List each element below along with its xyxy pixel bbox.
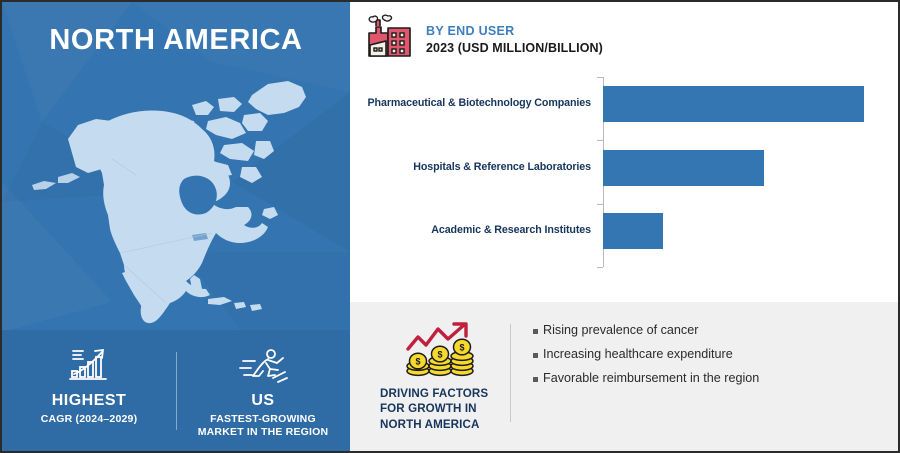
axis-tick	[597, 204, 603, 205]
north-america-map-icon	[16, 57, 338, 327]
bar-track	[598, 84, 898, 124]
bar-chart-growth-icon	[2, 344, 176, 386]
bar-label: Academic & Research Institutes	[350, 224, 598, 237]
bar-row: Hospitals & Reference Laboratories	[350, 148, 898, 188]
axis-tick	[597, 140, 603, 141]
list-item: Rising prevalence of cancer	[533, 324, 898, 338]
stat-fastest-growing-country: US FASTEST-GROWING MARKET IN THE REGION	[176, 344, 350, 439]
svg-text:$: $	[459, 343, 464, 353]
stat-detail-line1: FASTEST-GROWING	[176, 413, 350, 426]
chart-subtitle: 2023 (USD MILLION/BILLION)	[426, 40, 603, 56]
bullet-square-icon	[533, 329, 538, 334]
stat-highest-cagr: HIGHEST CAGR (2024–2029)	[2, 344, 176, 426]
bar-track	[598, 148, 898, 188]
bar-row: Academic & Research Institutes	[350, 211, 898, 251]
stat-detail-line2: MARKET IN THE REGION	[176, 426, 350, 439]
svg-text:$: $	[415, 357, 420, 367]
bar-label: Pharmaceutical & Biotechnology Companies	[350, 97, 598, 110]
bullet-square-icon	[533, 377, 538, 382]
stat-detail: CAGR (2024–2029)	[2, 413, 176, 426]
bar-label: Hospitals & Reference Laboratories	[350, 161, 598, 174]
list-item: Increasing healthcare expenditure	[533, 348, 898, 362]
list-item-label: Rising prevalence of cancer	[543, 324, 698, 338]
bar-row: Pharmaceutical & Biotechnology Companies	[350, 84, 898, 124]
list-item: Favorable reimbursement in the region	[533, 372, 898, 386]
stat-headline: US	[176, 392, 350, 410]
region-panel: NORTH AMERICA	[2, 2, 350, 451]
driving-factors-panel: $ $ $ DRIVING FACTORS FOR GROWTH IN NORT…	[350, 302, 898, 451]
driving-factors-heading-line2: FOR GROWTH IN	[372, 401, 510, 416]
svg-text:$: $	[437, 350, 442, 360]
driving-factors-heading-line1: DRIVING FACTORS	[372, 386, 510, 401]
rocket-speed-icon	[176, 344, 350, 386]
driving-factors-list: Rising prevalence of cancer Increasing h…	[511, 302, 898, 396]
chart-title: BY END USER	[426, 24, 603, 40]
bar-value	[603, 86, 864, 122]
axis-tick	[597, 267, 603, 268]
axis-tick	[597, 77, 603, 78]
bullet-square-icon	[533, 353, 538, 358]
infographic-root: NORTH AMERICA	[0, 0, 900, 453]
region-stats-strip: HIGHEST CAGR (2024–2029)	[2, 330, 350, 451]
bar-value	[603, 150, 764, 186]
list-item-label: Favorable reimbursement in the region	[543, 372, 759, 386]
chart-panel: BY END USER 2023 (USD MILLION/BILLION) P…	[350, 2, 898, 302]
bar-chart: Pharmaceutical & Biotechnology Companies…	[350, 72, 898, 272]
driving-factors-label: $ $ $ DRIVING FACTORS FOR GROWTH IN NORT…	[350, 302, 510, 432]
chart-header: BY END USER 2023 (USD MILLION/BILLION)	[364, 14, 603, 64]
bar-track	[598, 211, 898, 251]
stat-headline: HIGHEST	[2, 392, 176, 410]
bar-value	[603, 213, 663, 249]
driving-factors-heading-line3: NORTH AMERICA	[372, 417, 510, 432]
page-title: NORTH AMERICA	[2, 24, 350, 57]
coins-growth-arrow-icon: $ $ $	[372, 320, 510, 382]
list-item-label: Increasing healthcare expenditure	[543, 348, 733, 362]
factory-icon	[364, 14, 416, 64]
